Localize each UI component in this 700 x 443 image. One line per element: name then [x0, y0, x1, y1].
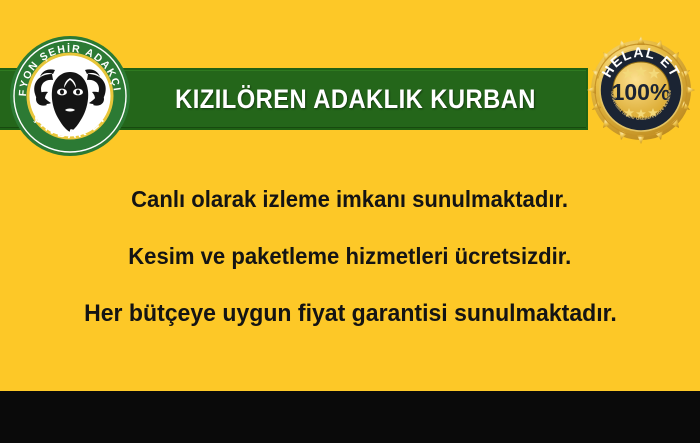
- promo-banner: KIZILÖREN ADAKLIK KURBAN: [0, 0, 700, 443]
- message-line-1: Canlı olarak izleme imkanı sunulmaktadır…: [132, 186, 569, 213]
- message-line-2: Kesim ve paketleme hizmetleri ücretsizdi…: [128, 243, 571, 270]
- bottom-black-bar: [0, 391, 700, 443]
- message-line-3: Her bütçeye uygun fiyat garantisi sunulm…: [84, 300, 617, 328]
- helal-badge: HELAL ET 100% Tüm Ürünlerimiz İslami Usü…: [586, 32, 696, 148]
- message-list: Canlı olarak izleme imkanı sunulmaktadır…: [0, 186, 700, 328]
- company-logo: AFYON ŞEHİR ADAKÇISI ÇAVDAR ET: [8, 34, 132, 158]
- badge-center-text: 100%: [612, 79, 671, 105]
- page-title: KIZILÖREN ADAKLIK KURBAN: [155, 68, 555, 130]
